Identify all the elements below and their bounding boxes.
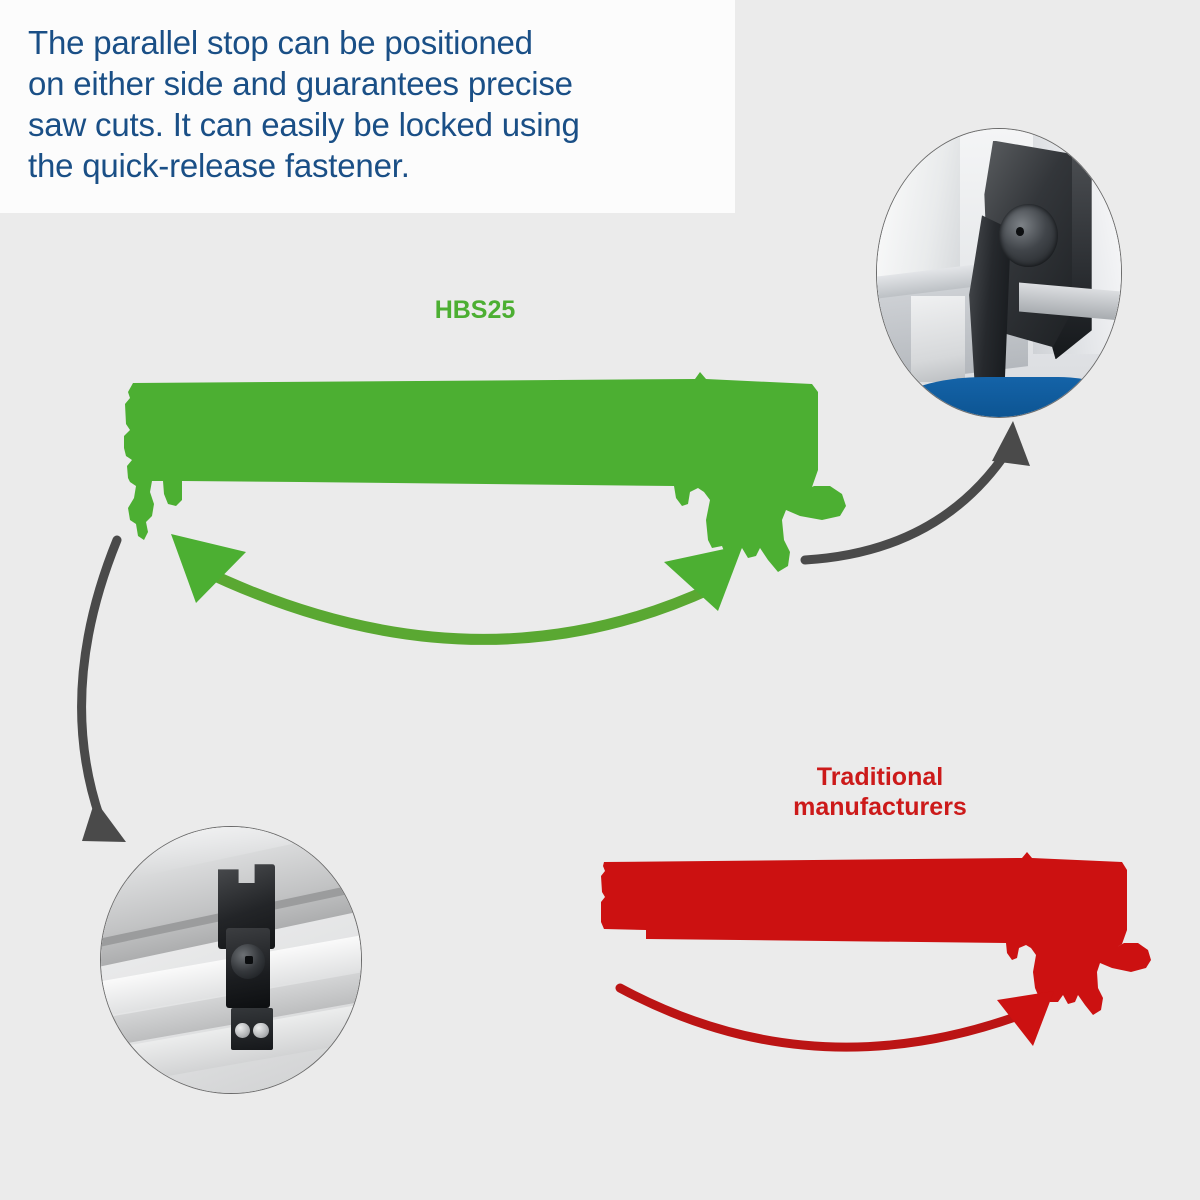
label-traditional-manufacturers: Traditional manufacturers <box>730 762 1030 822</box>
red-single-arrow <box>620 988 1054 1047</box>
caption-box: The parallel stop can be positioned on e… <box>0 0 735 213</box>
inset-photo-rail-clamp <box>100 826 362 1094</box>
photo-clamp-knob-pin <box>245 956 253 964</box>
rail-clamp-icon <box>101 827 361 1093</box>
inset-photo-quick-release-lever <box>876 128 1122 418</box>
photo-pivot-knob <box>999 204 1058 267</box>
red-parallel-stop-silhouette <box>601 852 1151 1015</box>
green-double-arrow <box>171 534 743 639</box>
quick-release-lever-icon <box>877 129 1121 417</box>
illustration-canvas: The parallel stop can be positioned on e… <box>0 0 1200 1200</box>
photo-knob-pin <box>1016 227 1024 236</box>
green-parallel-stop-silhouette <box>124 372 846 572</box>
caption-text: The parallel stop can be positioned on e… <box>28 22 721 186</box>
connector-arrow-left <box>82 540 126 842</box>
photo-screw-right <box>253 1023 269 1039</box>
photo-white-block <box>911 296 965 382</box>
connector-arrow-right <box>805 421 1030 560</box>
photo-blue-machine-base <box>897 377 1121 417</box>
label-hbs25: HBS25 <box>355 295 595 325</box>
